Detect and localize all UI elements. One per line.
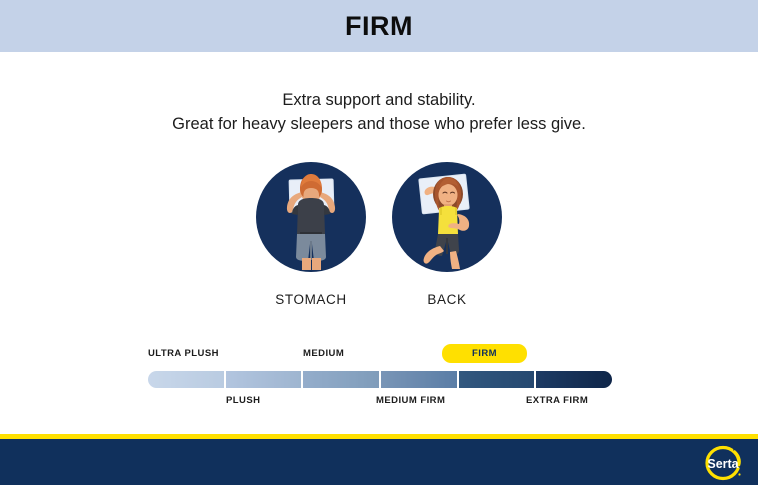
subtitle-line-2: Great for heavy sleepers and those who p… (0, 112, 758, 136)
footer-band (0, 439, 758, 485)
sleep-positions-group: STOMACH (0, 162, 758, 307)
subtitle-line-1: Extra support and stability. (0, 88, 758, 112)
scale-label-extra-firm: EXTRA FIRM (526, 395, 588, 406)
person-sleeping-on-back-icon (392, 162, 502, 272)
firmness-scale-bar[interactable] (148, 371, 612, 388)
scale-label-ultra-plush: ULTRA PLUSH (148, 348, 219, 359)
sleep-position-stomach: STOMACH (255, 162, 367, 307)
page-header: FIRM (0, 0, 758, 52)
firmness-scale: ULTRA PLUSH MEDIUM FIRM PLUSH MEDIUM FIR… (148, 348, 612, 418)
scale-segment-medium[interactable] (303, 371, 381, 388)
scale-segment-medium-firm[interactable] (381, 371, 459, 388)
scale-segment-extra-firm[interactable] (536, 371, 612, 388)
page-title: FIRM (345, 11, 413, 42)
scale-segment-firm[interactable] (459, 371, 537, 388)
subtitle-block: Extra support and stability. Great for h… (0, 88, 758, 136)
firmness-scale-labels-bottom: PLUSH MEDIUM FIRM EXTRA FIRM (148, 395, 612, 413)
sleep-position-label-back: BACK (427, 292, 466, 307)
scale-segment-ultra-plush[interactable] (148, 371, 226, 388)
sleep-position-back: BACK (391, 162, 503, 307)
person-sleeping-on-stomach-icon (256, 162, 366, 272)
serta-logo-text: Serta (707, 457, 739, 471)
scale-label-medium: MEDIUM (303, 348, 344, 359)
scale-label-plush: PLUSH (226, 395, 260, 406)
scale-label-firm-active-badge[interactable]: FIRM (442, 344, 527, 363)
scale-label-medium-firm: MEDIUM FIRM (376, 395, 445, 406)
firmness-scale-labels-top: ULTRA PLUSH MEDIUM FIRM (148, 348, 612, 370)
serta-logo: Serta (704, 444, 744, 482)
sleep-position-label-stomach: STOMACH (275, 292, 346, 307)
scale-segment-plush[interactable] (226, 371, 304, 388)
